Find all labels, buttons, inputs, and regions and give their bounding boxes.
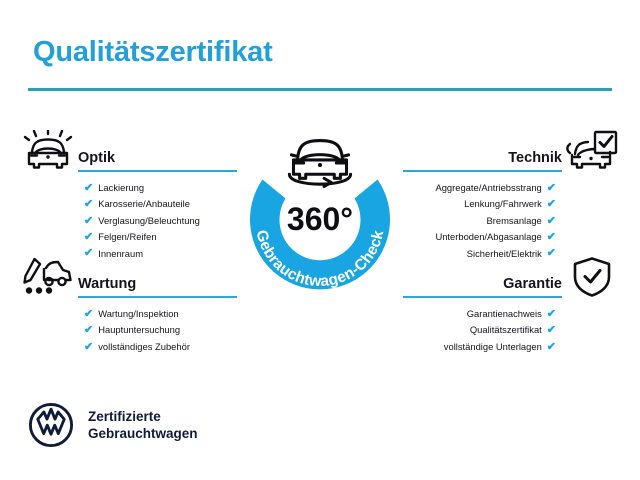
check-item: ✔Lackierung xyxy=(22,180,237,196)
badge-center-text: 360° xyxy=(287,201,353,237)
shield-check-icon xyxy=(566,256,618,298)
check-icon: ✔ xyxy=(547,232,556,243)
pen-car-service-icon xyxy=(22,256,74,298)
car-rotate-360-icon xyxy=(289,141,350,187)
footer-logo-text: Zertifizierte Gebrauchtwagen xyxy=(88,408,198,442)
check-icon: ✔ xyxy=(84,232,93,243)
section-underline-wartung xyxy=(78,296,237,299)
check-item-label: Garantienachweis xyxy=(467,306,542,322)
check-item: ✔Karosserie/Anbauteile xyxy=(22,196,237,212)
check-icon: ✔ xyxy=(547,183,556,194)
checklist-technik: ✔Aggregate/Antriebsstrang✔Lenkung/Fahrwe… xyxy=(403,180,618,262)
check-item-label: Hauptuntersuchung xyxy=(98,322,180,338)
section-title-wartung: Wartung xyxy=(78,276,237,293)
car-checkbox-icon xyxy=(566,130,618,172)
check-item-label: Aggregate/Antriebsstrang xyxy=(435,180,541,196)
check-item: ✔Felgen/Reifen xyxy=(22,229,237,245)
badge-360-gebrauchtwagen-check: Gebrauchtwagen-Check 360° xyxy=(226,122,414,310)
checklist-optik: ✔Lackierung✔Karosserie/Anbauteile✔Vergla… xyxy=(22,180,237,262)
check-item: ✔Wartung/Inspektion xyxy=(22,306,237,322)
check-item-label: Felgen/Reifen xyxy=(98,229,156,245)
footer-line-2: Gebrauchtwagen xyxy=(88,425,198,442)
check-icon: ✔ xyxy=(547,309,556,320)
check-icon: ✔ xyxy=(84,325,93,336)
check-item-label: Wartung/Inspektion xyxy=(98,306,178,322)
check-icon: ✔ xyxy=(547,325,556,336)
check-icon: ✔ xyxy=(84,183,93,194)
section-underline-technik xyxy=(403,170,562,173)
section-title-optik: Optik xyxy=(78,150,237,167)
checklist-garantie: ✔Garantienachweis✔Qualitätszertifikat✔vo… xyxy=(403,306,618,355)
check-icon: ✔ xyxy=(84,216,93,227)
section-garantie: Garantie✔Garantienachweis✔Qualitätszerti… xyxy=(403,256,618,371)
check-item-label: Karosserie/Anbauteile xyxy=(98,196,190,212)
check-item: ✔vollständige Unterlagen xyxy=(403,339,618,355)
check-item: ✔Hauptuntersuchung xyxy=(22,322,237,338)
check-item: ✔vollständiges Zubehör xyxy=(22,339,237,355)
check-icon: ✔ xyxy=(547,216,556,227)
check-item-label: vollständige Unterlagen xyxy=(444,339,542,355)
check-icon: ✔ xyxy=(84,199,93,210)
check-icon: ✔ xyxy=(547,199,556,210)
check-icon: ✔ xyxy=(547,342,556,353)
check-item: ✔Verglasung/Beleuchtung xyxy=(22,213,237,229)
certificate-page: Qualitätszertifikat Optik✔Lackierung✔Kar… xyxy=(0,0,640,480)
check-item: ✔Qualitätszertifikat xyxy=(403,322,618,338)
check-item: ✔Lenkung/Fahrwerk xyxy=(403,196,618,212)
check-item: ✔Unterboden/Abgasanlage xyxy=(403,229,618,245)
page-title: Qualitätszertifikat xyxy=(33,36,273,69)
check-icon: ✔ xyxy=(84,309,93,320)
check-item-label: Unterboden/Abgasanlage xyxy=(435,229,541,245)
check-item-label: Qualitätszertifikat xyxy=(470,322,542,338)
check-item-label: vollständiges Zubehör xyxy=(98,339,190,355)
check-item-label: Lenkung/Fahrwerk xyxy=(464,196,542,212)
check-item-label: Bremsanlage xyxy=(487,213,542,229)
car-shine-icon xyxy=(22,130,74,172)
check-item: ✔Garantienachweis xyxy=(403,306,618,322)
volkswagen-logo xyxy=(28,402,74,448)
check-item-label: Lackierung xyxy=(98,180,144,196)
footer-logo: Zertifizierte Gebrauchtwagen xyxy=(28,402,198,448)
check-icon: ✔ xyxy=(84,342,93,353)
checklist-wartung: ✔Wartung/Inspektion✔Hauptuntersuchung✔vo… xyxy=(22,306,237,355)
section-wartung: Wartung✔Wartung/Inspektion✔Hauptuntersuc… xyxy=(22,256,237,371)
section-title-technik: Technik xyxy=(403,150,562,167)
section-underline-garantie xyxy=(403,296,562,299)
check-item-label: Verglasung/Beleuchtung xyxy=(98,213,200,229)
check-item: ✔Aggregate/Antriebsstrang xyxy=(403,180,618,196)
header-divider xyxy=(28,88,612,91)
section-underline-optik xyxy=(78,170,237,173)
section-title-garantie: Garantie xyxy=(403,276,562,293)
footer-line-1: Zertifizierte xyxy=(88,408,198,425)
check-item: ✔Bremsanlage xyxy=(403,213,618,229)
